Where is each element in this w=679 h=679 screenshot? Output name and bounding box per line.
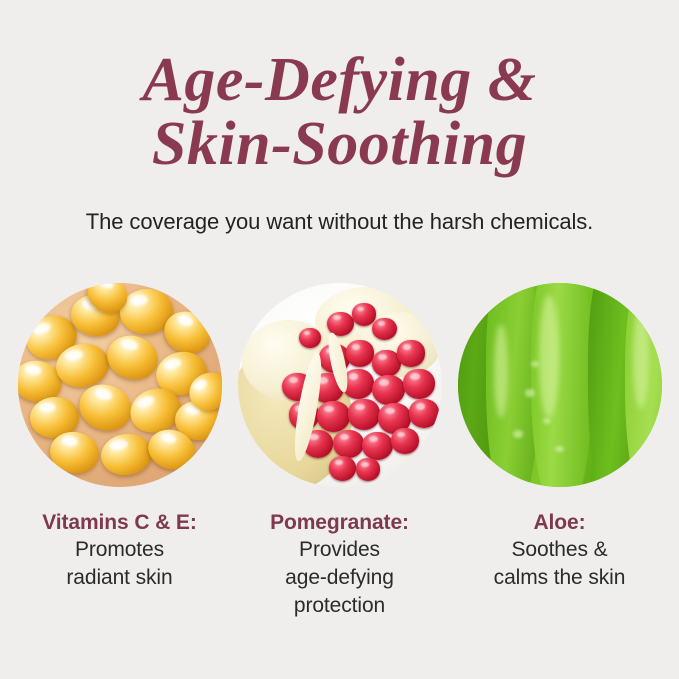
headline-line-1: Age-Defying & [0,48,679,112]
page-title: Age-Defying & Skin-Soothing [0,48,679,176]
ingredient-description: Provides age-defying protection [232,536,447,620]
subheading: The coverage you want without the harsh … [0,208,679,236]
ingredient-column-aloe: Aloe: Soothes & calms the skin [458,283,662,620]
ingredient-column-vitamins: Vitamins C & E: Promotes radiant skin [18,283,222,620]
ingredient-label: Aloe: [452,509,667,536]
description-line-1: Soothes & [452,536,667,564]
aloe-vera-leaves-photo [458,283,662,487]
ingredient-columns: Vitamins C & E: Promotes radiant skin [0,283,679,620]
pomegranate-photo [238,283,442,487]
ingredient-column-pomegranate: Pomegranate: Provides age-defying protec… [238,283,442,620]
ingredient-description: Soothes & calms the skin [452,536,667,592]
ingredient-benefits-infographic: Age-Defying & Skin-Soothing The coverage… [0,0,679,679]
vitamin-softgel-capsules-photo [18,283,222,487]
ingredient-label: Vitamins C & E: [12,509,227,536]
ingredient-description: Promotes radiant skin [12,536,227,592]
ingredient-caption-pomegranate: Pomegranate: Provides age-defying protec… [232,509,447,620]
headline-line-2: Skin-Soothing [0,112,679,176]
description-line-2: radiant skin [12,564,227,592]
description-line-1: Promotes [12,536,227,564]
description-line-3: protection [232,592,447,620]
ingredient-caption-aloe: Aloe: Soothes & calms the skin [452,509,667,592]
ingredient-label: Pomegranate: [232,509,447,536]
description-line-2: calms the skin [452,564,667,592]
description-line-1: Provides [232,536,447,564]
ingredient-caption-vitamins: Vitamins C & E: Promotes radiant skin [12,509,227,592]
description-line-2: age-defying [232,564,447,592]
